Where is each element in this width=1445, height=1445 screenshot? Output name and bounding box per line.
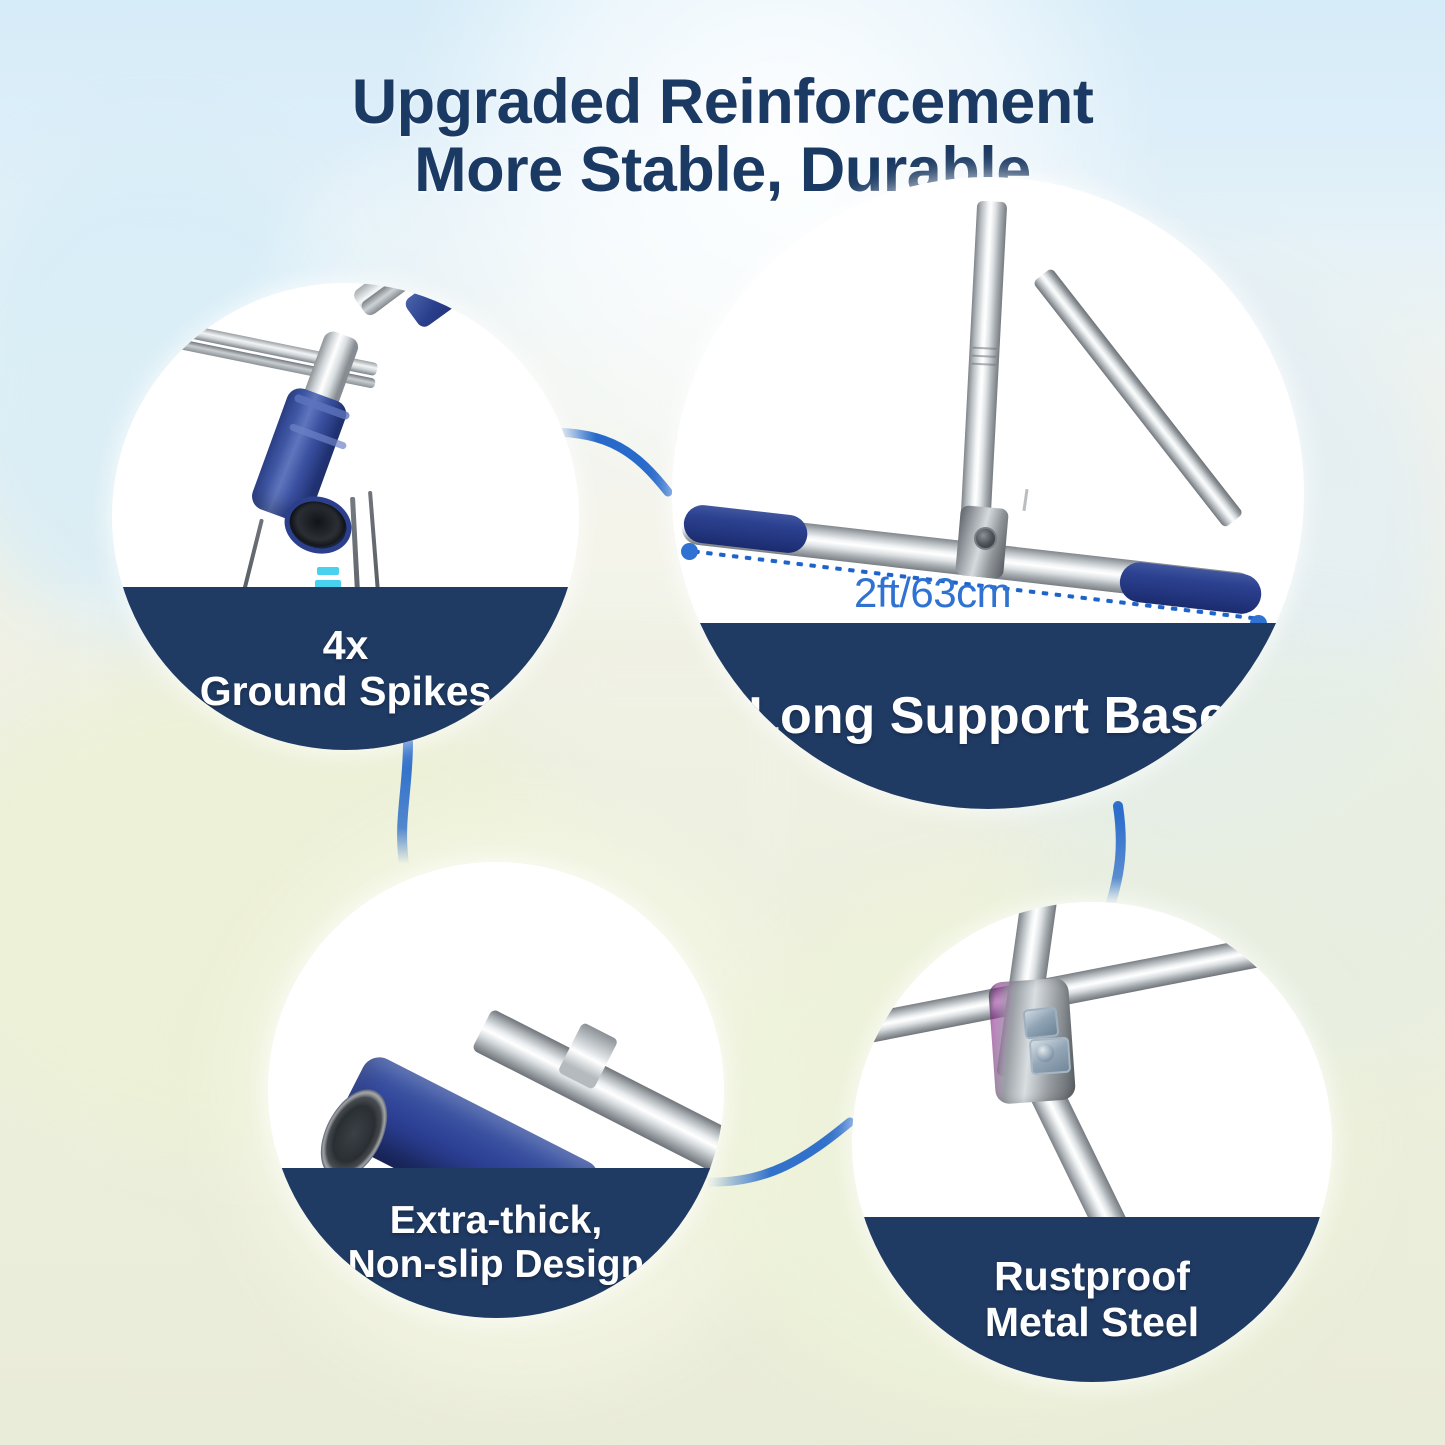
feature-label-long-support-base: Long Support Base xyxy=(672,623,1304,809)
left-blue-grip xyxy=(682,503,810,555)
feature-card-non-slip-grip[interactable]: Extra-thick, Non-slip Design xyxy=(268,862,724,1318)
vertical-pole xyxy=(960,201,1007,532)
blue-end-cap xyxy=(403,283,462,330)
label-line-2: Ground Spikes xyxy=(200,669,492,715)
clamp-bolt-upper xyxy=(1023,1006,1060,1039)
label-line-1: Extra-thick, xyxy=(348,1199,645,1243)
diagonal-brace xyxy=(1033,268,1244,529)
label-line-1: Long Support Base xyxy=(748,687,1228,745)
right-blue-grip xyxy=(1118,560,1264,616)
feature-label-ground-spikes: 4x Ground Spikes xyxy=(112,587,579,750)
clamp-bolt-head-icon xyxy=(1036,1044,1054,1062)
label-line-2: Non-slip Design xyxy=(348,1243,645,1287)
infographic-canvas: Upgraded Reinforcement More Stable, Dura… xyxy=(0,0,1445,1445)
feature-card-rustproof-steel[interactable]: Rustproof Metal Steel xyxy=(852,902,1332,1382)
measurement-endpoint-left xyxy=(681,543,698,560)
label-line-1: Rustproof xyxy=(985,1254,1199,1300)
title-line-1: Upgraded Reinforcement xyxy=(0,68,1445,136)
feature-label-non-slip-grip: Extra-thick, Non-slip Design xyxy=(268,1168,724,1318)
feature-label-rustproof-steel: Rustproof Metal Steel xyxy=(852,1217,1332,1382)
feature-card-ground-spikes[interactable]: 4x Ground Spikes xyxy=(112,283,579,750)
joint-bolt xyxy=(974,527,997,550)
tube-seam xyxy=(1022,489,1028,511)
feature-card-long-support-base[interactable]: 2ft/63cm Long Support Base xyxy=(672,177,1304,809)
label-line-1: 4x xyxy=(200,623,492,669)
dimension-label: 2ft/63cm xyxy=(854,569,1011,617)
horizontal-steel-tube xyxy=(852,915,1332,1051)
label-line-2: Metal Steel xyxy=(985,1300,1199,1346)
